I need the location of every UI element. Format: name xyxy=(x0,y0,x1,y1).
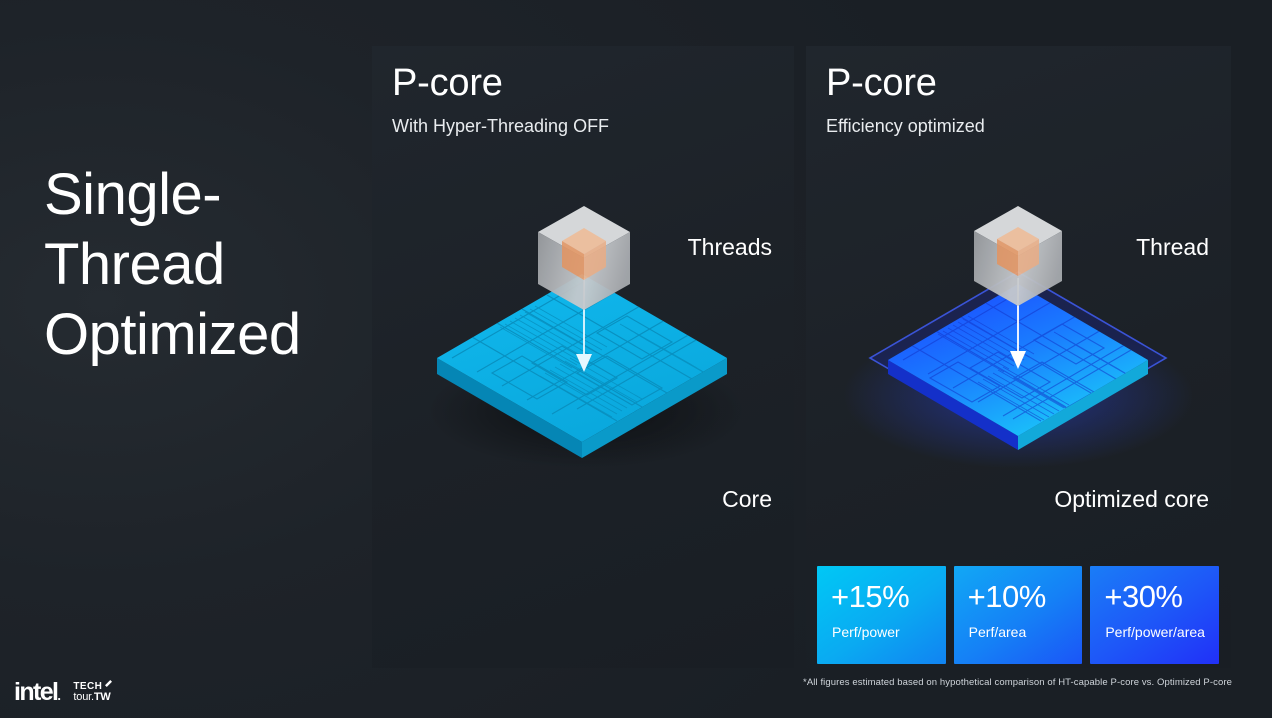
core-diagram-standard xyxy=(372,206,794,586)
stat-card-perf-area[interactable]: +10% Perf/area xyxy=(954,566,1083,664)
stat-card-perf-power[interactable]: +15% Perf/power xyxy=(817,566,946,664)
tech-tour-mark-icon xyxy=(105,680,112,687)
card-title: P-core xyxy=(826,62,937,105)
logo-bar: intel. TECH tour.TW xyxy=(14,680,111,708)
card-subtitle: Efficiency optimized xyxy=(826,116,985,137)
tech-tour-line2: tour.TW xyxy=(73,692,110,703)
card-subtitle: With Hyper-Threading OFF xyxy=(392,116,609,137)
footnote: *All figures estimated based on hypothet… xyxy=(803,677,1232,688)
tech-tour-tour: tour. xyxy=(73,691,93,703)
card-pcore-ht-off: P-core With Hyper-Threading OFF Threads … xyxy=(372,46,794,668)
stat-value: +10% xyxy=(968,579,1046,615)
intel-logo: intel. xyxy=(14,680,59,708)
stats-row: +15% Perf/power +10% Perf/area +30% Perf… xyxy=(817,566,1219,664)
stat-caption: Perf/power/area xyxy=(1105,624,1205,640)
page-title: Single- Thread Optimized xyxy=(44,160,374,370)
slide-root: Single- Thread Optimized P-core With Hyp… xyxy=(0,0,1272,718)
card-title: P-core xyxy=(392,62,503,105)
tech-tour-logo: TECH tour.TW xyxy=(73,680,110,703)
core-diagram-optimized xyxy=(806,206,1231,586)
intel-logo-text: intel xyxy=(14,678,57,706)
stat-caption: Perf/power xyxy=(832,624,900,640)
stat-value: +15% xyxy=(831,579,909,615)
stat-value: +30% xyxy=(1104,579,1182,615)
card-pcore-optimized: P-core Efficiency optimized Thread Optim… xyxy=(806,46,1231,668)
stat-caption: Perf/area xyxy=(969,624,1027,640)
tech-tour-tw: TW xyxy=(94,691,111,703)
stat-card-perf-power-area[interactable]: +30% Perf/power/area xyxy=(1090,566,1219,664)
intel-logo-dot: . xyxy=(57,688,59,703)
